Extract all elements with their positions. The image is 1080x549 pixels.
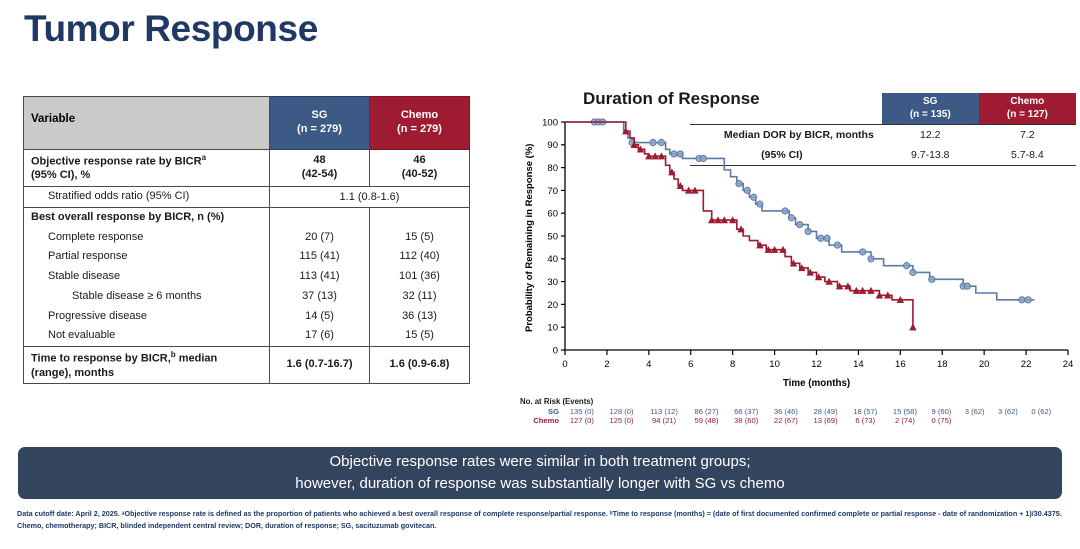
row-value-chemo-complete-response: 15 (5) — [370, 228, 470, 248]
header-variable: Variable — [24, 97, 270, 150]
risk-cell: 127 (0) — [562, 416, 602, 425]
banner-line-1: Objective response rates were similar in… — [329, 451, 750, 473]
row-value-sg-partial-response: 115 (41) — [270, 247, 370, 267]
header-chemo-name: Chemo — [372, 109, 467, 123]
risk-cell: 22 (67) — [766, 416, 806, 425]
row-label-partial-response: Partial response — [24, 247, 270, 267]
risk-cell: 0 (62) — [1025, 407, 1058, 416]
row-value-chemo-stable-disease: 101 (36) — [370, 267, 470, 287]
censor-mark-circle — [700, 155, 706, 161]
tumor-response-table: Variable SG (n = 279) Chemo (n = 279) Ob… — [23, 96, 470, 384]
row-label-complete-response: Complete response — [24, 228, 270, 248]
risk-cell: 86 (27) — [687, 407, 727, 416]
y-tick-label: 90 — [547, 140, 558, 151]
table-row: Time to response by BICR,b median (range… — [24, 347, 470, 384]
x-tick-label: 2 — [604, 359, 609, 370]
censor-mark-circle — [782, 208, 788, 214]
y-tick-label: 50 — [547, 231, 558, 242]
risk-cell: 3 (62) — [991, 407, 1024, 416]
risk-cell: 125 (0) — [602, 416, 642, 425]
risk-cell: 66 (37) — [726, 407, 766, 416]
censor-mark-circle — [757, 201, 763, 207]
risk-row-label-sg: SG — [522, 407, 562, 416]
y-tick-label: 20 — [547, 300, 558, 311]
row-label-not-evaluable: Not evaluable — [24, 326, 270, 346]
row-label-stable-disease-6mo: Stable disease ≥ 6 months — [24, 287, 270, 307]
censor-mark-circle — [824, 235, 830, 241]
row-value-sg-stable-disease: 113 (41) — [270, 267, 370, 287]
risk-cell: 113 (12) — [641, 407, 686, 416]
risk-table: No. at Risk (Events) SG 135 (0) 128 (0) … — [520, 397, 1080, 425]
censor-mark-circle — [818, 235, 824, 241]
y-tick-label: 10 — [547, 323, 558, 334]
km-curve-sg — [565, 122, 1034, 300]
y-tick-label: 30 — [547, 277, 558, 288]
censor-mark-circle — [677, 151, 683, 157]
header-sg-n: (n = 279) — [272, 123, 367, 137]
x-axis-label: Time (months) — [783, 378, 850, 389]
x-tick-label: 6 — [688, 359, 693, 370]
x-tick-label: 24 — [1063, 359, 1074, 370]
table-row: Partial response 115 (41) 112 (40) — [24, 247, 470, 267]
row-value-sg-complete-response: 20 (7) — [270, 228, 370, 248]
row-value-sg-progressive-disease: 14 (5) — [270, 307, 370, 327]
x-tick-label: 8 — [730, 359, 735, 370]
row-value-sg-orr: 48 (42-54) — [270, 150, 370, 187]
km-chart: 0102030405060708090100024681012141618202… — [520, 112, 1080, 402]
row-value-chemo-partial-response: 112 (40) — [370, 247, 470, 267]
row-value-chemo-progressive-disease: 36 (13) — [370, 307, 470, 327]
y-tick-label: 60 — [547, 209, 558, 220]
row-value-sg-time-to-response: 1.6 (0.7-16.7) — [270, 347, 370, 384]
risk-cell: 135 (0) — [562, 407, 602, 416]
row-label-stable-disease: Stable disease — [24, 267, 270, 287]
y-tick-label: 100 — [542, 117, 558, 128]
censor-mark-circle — [1025, 297, 1031, 303]
banner-line-2: however, duration of response was substa… — [295, 473, 784, 495]
censor-mark-circle — [868, 256, 874, 262]
censor-mark-circle — [671, 151, 677, 157]
table-row: Complete response 20 (7) 15 (5) — [24, 228, 470, 248]
risk-cell: 0 (75) — [925, 416, 958, 425]
table-row: Not evaluable 17 (6) 15 (5) — [24, 326, 470, 346]
row-value-chemo-stable-disease-6mo: 32 (11) — [370, 287, 470, 307]
censor-mark-triangle — [910, 324, 916, 330]
censor-mark-circle — [797, 222, 803, 228]
header-sg-name: SG — [272, 109, 367, 123]
censor-mark-circle — [904, 263, 910, 269]
x-tick-label: 10 — [769, 359, 780, 370]
censor-mark-circle — [650, 139, 656, 145]
header-chemo-n: (n = 279) — [372, 123, 467, 137]
risk-cell: 28 (49) — [806, 407, 846, 416]
censor-mark-circle — [860, 249, 866, 255]
key-message-banner: Objective response rates were similar in… — [18, 447, 1062, 499]
risk-cell: 3 (62) — [958, 407, 991, 416]
header-chemo: Chemo (n = 279) — [370, 97, 470, 150]
risk-cell: 94 (21) — [641, 416, 686, 425]
censor-mark-circle — [805, 228, 811, 234]
km-chart-svg: 0102030405060708090100024681012141618202… — [520, 112, 1080, 402]
censor-mark-circle — [910, 269, 916, 275]
footnote-line-1: Data cutoff date: April 2, 2025. ᵃObject… — [17, 509, 1069, 520]
censor-mark-circle — [751, 194, 757, 200]
risk-row-sg: SG 135 (0) 128 (0) 113 (12) 86 (27) 66 (… — [522, 407, 1058, 416]
y-tick-label: 80 — [547, 163, 558, 174]
x-tick-label: 12 — [811, 359, 822, 370]
row-value-odds-ratio: 1.1 (0.8-1.6) — [270, 187, 470, 208]
table-row: Stable disease ≥ 6 months 37 (13) 32 (11… — [24, 287, 470, 307]
dor-header-sg-name: SG — [884, 96, 977, 109]
footnote-line-2: Chemo, chemotherapy; BICR, blinded indep… — [17, 521, 1069, 532]
table-row: Stratified odds ratio (95% CI) 1.1 (0.8-… — [24, 187, 470, 208]
row-label-orr: Objective response rate by BICRa (95% CI… — [24, 150, 270, 187]
censor-mark-circle — [744, 187, 750, 193]
censor-mark-circle — [929, 276, 935, 282]
risk-cell: 18 (57) — [845, 407, 885, 416]
risk-table-grid: SG 135 (0) 128 (0) 113 (12) 86 (27) 66 (… — [522, 407, 1058, 425]
x-tick-label: 20 — [979, 359, 990, 370]
risk-row-label-chemo: Chemo — [522, 416, 562, 425]
x-tick-label: 14 — [853, 359, 864, 370]
censor-mark-circle — [736, 180, 742, 186]
y-tick-label: 40 — [547, 254, 558, 265]
row-value-chemo-best-overall — [370, 207, 470, 227]
risk-cell: 59 (48) — [687, 416, 727, 425]
table-header-row: Variable SG (n = 279) Chemo (n = 279) — [24, 97, 470, 150]
censor-mark-circle — [834, 242, 840, 248]
risk-cell: 9 (60) — [925, 407, 958, 416]
table-row: Objective response rate by BICRa (95% CI… — [24, 150, 470, 187]
censor-mark-circle — [1019, 297, 1025, 303]
km-curve-chemo — [565, 122, 913, 327]
table-row: Stable disease 113 (41) 101 (36) — [24, 267, 470, 287]
risk-cell: 15 (58) — [885, 407, 925, 416]
page-title: Tumor Response — [24, 8, 318, 50]
y-tick-label: 0 — [553, 345, 558, 356]
x-tick-label: 4 — [646, 359, 651, 370]
risk-cell — [991, 416, 1024, 425]
risk-cell: 38 (60) — [726, 416, 766, 425]
x-tick-label: 22 — [1021, 359, 1032, 370]
risk-cell — [958, 416, 991, 425]
row-label-progressive-disease: Progressive disease — [24, 307, 270, 327]
row-value-sg-stable-disease-6mo: 37 (13) — [270, 287, 370, 307]
risk-cell: 13 (69) — [806, 416, 846, 425]
risk-table-title: No. at Risk (Events) — [520, 397, 1080, 406]
footnotes: Data cutoff date: April 2, 2025. ᵃObject… — [17, 509, 1069, 532]
risk-row-chemo: Chemo 127 (0) 125 (0) 94 (21) 59 (48) 38… — [522, 416, 1058, 425]
x-tick-label: 18 — [937, 359, 948, 370]
slide-root: Tumor Response Variable SG (n = 279) Che… — [0, 0, 1080, 549]
x-tick-label: 0 — [562, 359, 567, 370]
censor-mark-circle — [658, 139, 664, 145]
table-row: Best overall response by BICR, n (%) — [24, 207, 470, 227]
censor-mark-circle — [788, 215, 794, 221]
risk-cell: 36 (46) — [766, 407, 806, 416]
row-value-chemo-orr: 46 (40-52) — [370, 150, 470, 187]
x-tick-label: 16 — [895, 359, 906, 370]
risk-cell — [1025, 416, 1058, 425]
row-value-chemo-not-evaluable: 15 (5) — [370, 326, 470, 346]
row-label-time-to-response: Time to response by BICR,b median (range… — [24, 347, 270, 384]
row-value-sg-not-evaluable: 17 (6) — [270, 326, 370, 346]
footnote-marker-a: a — [202, 153, 206, 162]
censor-mark-circle — [964, 283, 970, 289]
row-label-best-overall-response: Best overall response by BICR, n (%) — [24, 207, 270, 227]
header-sg: SG (n = 279) — [270, 97, 370, 150]
risk-cell: 2 (74) — [885, 416, 925, 425]
risk-cell: 6 (73) — [845, 416, 885, 425]
dor-header-chemo-name: Chemo — [981, 96, 1074, 109]
risk-cell: 128 (0) — [602, 407, 642, 416]
table-row: Progressive disease 14 (5) 36 (13) — [24, 307, 470, 327]
row-value-chemo-time-to-response: 1.6 (0.9-6.8) — [370, 347, 470, 384]
row-label-odds-ratio: Stratified odds ratio (95% CI) — [24, 187, 270, 208]
y-tick-label: 70 — [547, 186, 558, 197]
row-value-sg-best-overall — [270, 207, 370, 227]
